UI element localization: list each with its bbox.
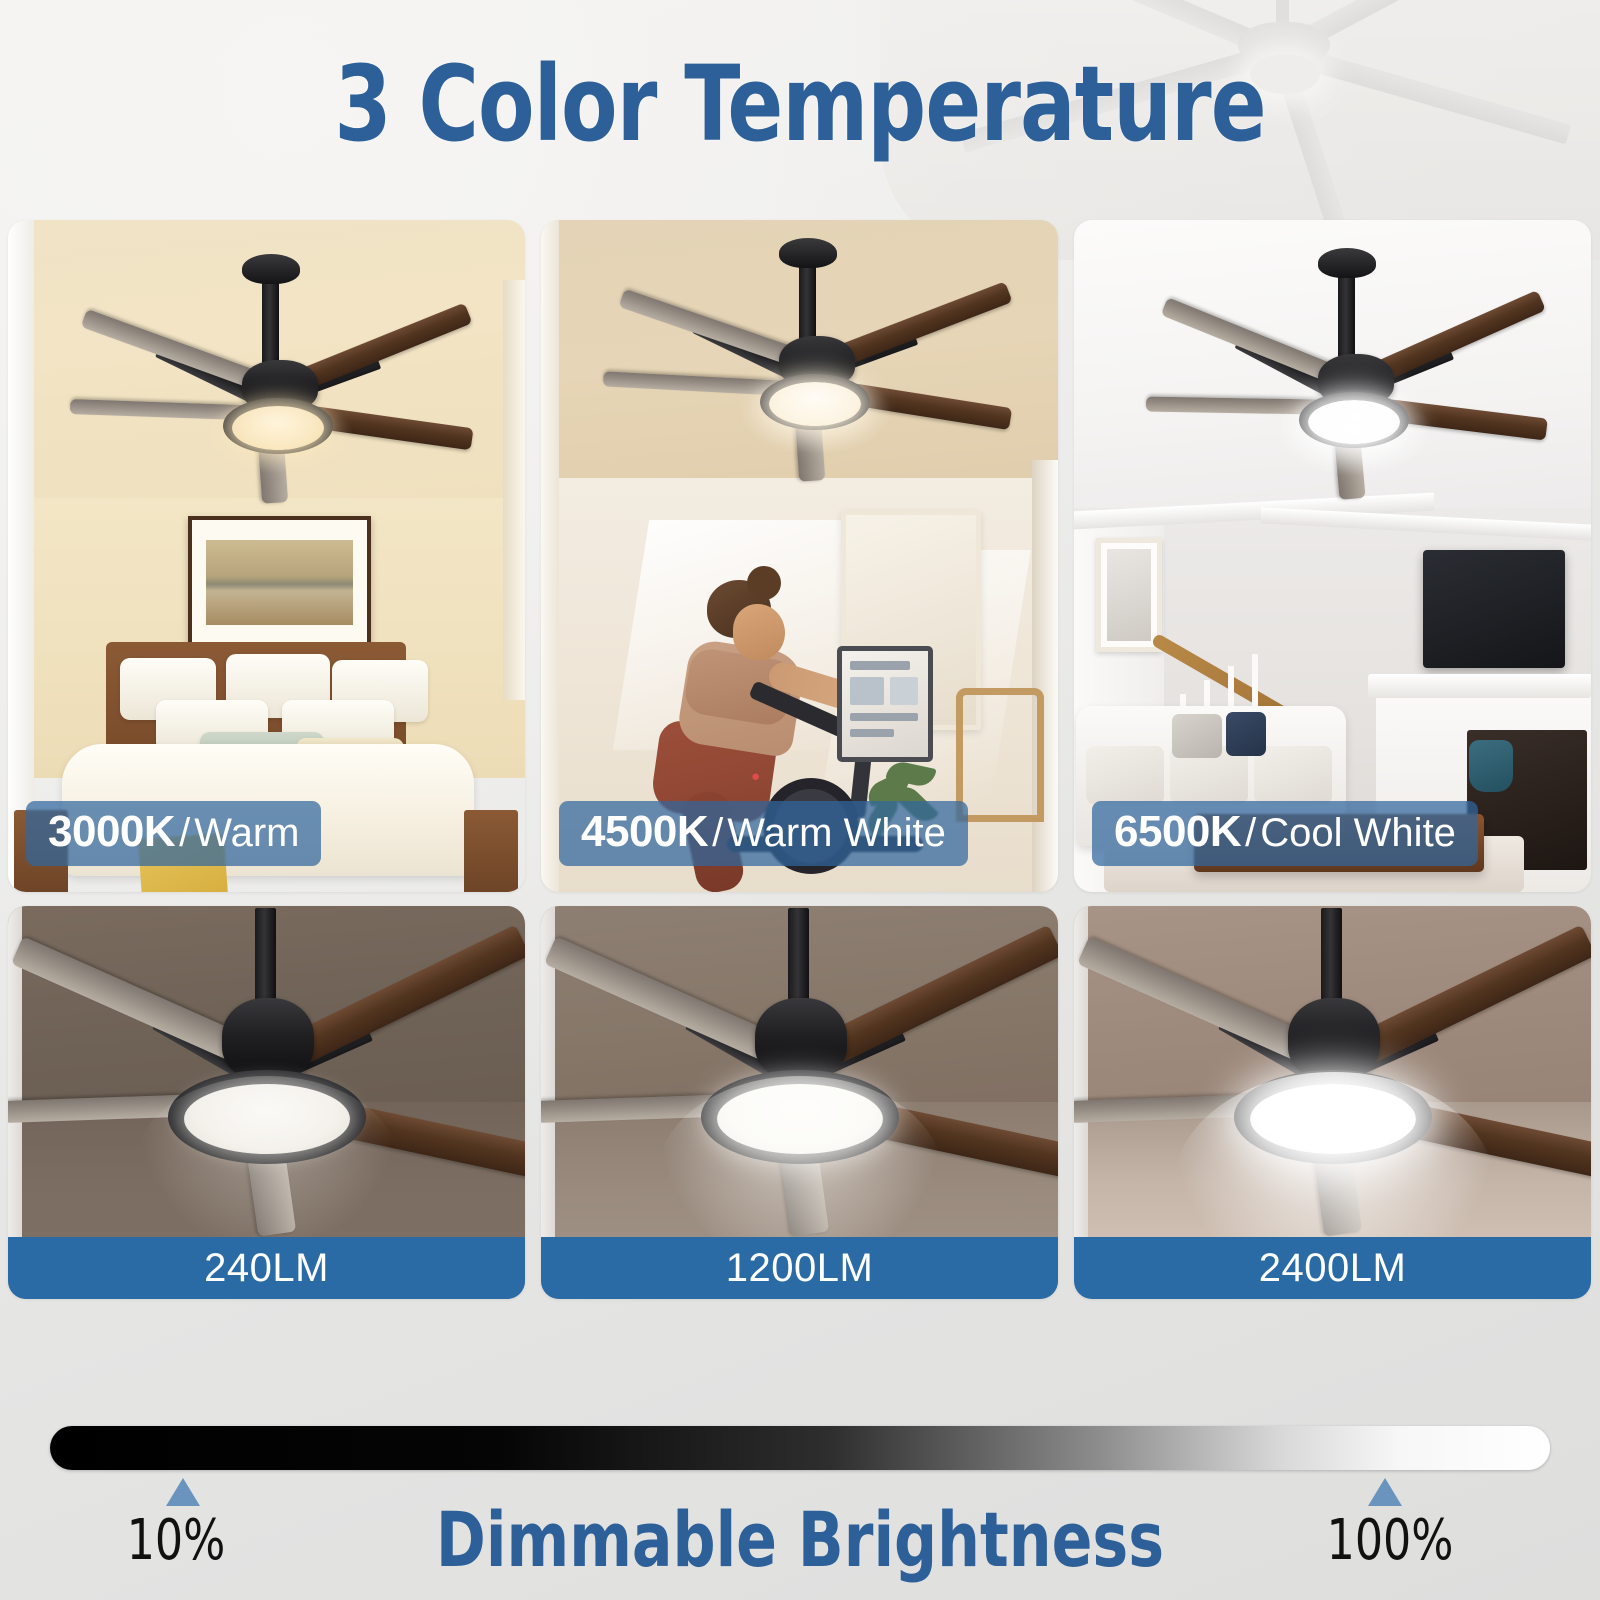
dimmer-section: 10% 100% Dimmable Brightness (0, 1404, 1600, 1600)
dimmer-title: Dimmable Brightness (96, 1502, 1504, 1578)
kelvin-name: Warm (194, 811, 299, 855)
tile-3000k[interactable]: 3000K/Warm (8, 220, 525, 892)
kelvin-separator: / (175, 811, 194, 855)
framed-artwork (188, 516, 371, 649)
bike-brand-mark: ● (751, 768, 815, 788)
kelvin-value: 3000K (48, 807, 175, 856)
lumen-band: 240LM (8, 1237, 525, 1299)
kelvin-value: 6500K (1114, 807, 1241, 856)
kelvin-name: Warm White (727, 811, 946, 855)
kelvin-label-6500k: 6500K/Cool White (1092, 801, 1478, 866)
light-glass (717, 1084, 883, 1154)
light-glass (232, 406, 324, 450)
lumen-label: 2400LM (1259, 1246, 1407, 1291)
page-title: 3 Color Temperature (96, 52, 1504, 156)
tile-1200lm[interactable]: 1200LM (541, 906, 1058, 1299)
kelvin-label-3000k: 3000K/Warm (26, 801, 321, 866)
infographic-page: 3 Color Temperature (0, 0, 1600, 1600)
light-glass (1308, 400, 1400, 444)
kelvin-label-4500k: 4500K/Warm White (559, 801, 968, 866)
ceiling-fan (1080, 220, 1591, 514)
lumen-label: 1200LM (726, 1246, 874, 1291)
kelvin-separator: / (708, 811, 727, 855)
wall-tv (1423, 550, 1565, 668)
tile-6500k[interactable]: 6500K/Cool White (1074, 220, 1591, 892)
lumen-label: 240LM (204, 1246, 329, 1291)
ceiling-fan (541, 220, 1058, 504)
tile-2400lm[interactable]: 2400LM (1074, 906, 1591, 1299)
kelvin-name: Cool White (1260, 811, 1456, 855)
ceiling-fan-closeup (541, 906, 1058, 1240)
ceiling-fan-closeup (1074, 906, 1591, 1240)
ceiling-fan (8, 220, 525, 520)
light-glass (769, 382, 861, 426)
lumen-band: 1200LM (541, 1237, 1058, 1299)
lumen-band: 2400LM (1074, 1237, 1591, 1299)
tile-4500k[interactable]: ● (541, 220, 1058, 892)
lumen-row: 240LM (8, 906, 1592, 1299)
light-glass (184, 1084, 350, 1154)
brightness-gradient-slider[interactable] (50, 1426, 1550, 1470)
kelvin-separator: / (1241, 811, 1260, 855)
light-glass (1250, 1084, 1416, 1154)
temperature-row: 3000K/Warm (8, 220, 1592, 892)
ceiling-fan-closeup (8, 906, 525, 1240)
vase (1469, 740, 1513, 792)
kelvin-value: 4500K (581, 807, 708, 856)
tile-grid: 3000K/Warm (8, 220, 1592, 1299)
tile-240lm[interactable]: 240LM (8, 906, 525, 1299)
